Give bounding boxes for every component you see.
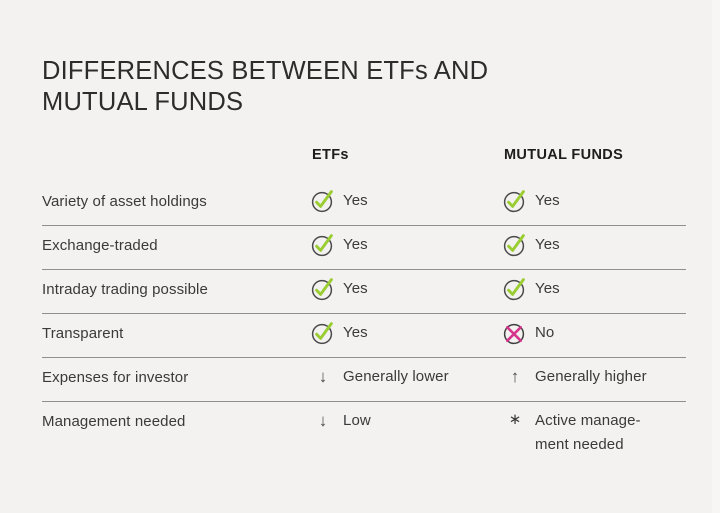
check-circle-icon — [502, 188, 528, 214]
table-row: Exchange-traded Yes — [42, 225, 686, 269]
table-row: Transparent Yes — [42, 313, 686, 357]
column-header-mutual-funds: MUTUAL FUNDS — [504, 147, 623, 163]
comparison-table: ETFs MUTUAL FUNDS Variety of asset holdi… — [42, 140, 686, 464]
arrow-down-icon: ↓ — [310, 408, 336, 433]
cell-value: Yes — [343, 320, 368, 345]
row-label: Management needed — [42, 413, 185, 430]
arrow-up-icon: ↑ — [502, 364, 528, 389]
x-circle-icon — [502, 320, 528, 346]
check-circle-icon — [310, 276, 336, 302]
cell-mutual: Yes — [502, 188, 702, 214]
table-row: Expenses for investor ↓ Generally lower … — [42, 357, 686, 401]
cell-value: Yes — [343, 232, 368, 257]
cell-etf: ↓ Generally lower — [310, 364, 495, 389]
cell-mutual: No — [502, 320, 702, 346]
cell-etf: Yes — [310, 320, 495, 346]
check-circle-icon — [310, 188, 336, 214]
asterisk-icon: ∗ — [502, 408, 528, 431]
cell-value: Yes — [343, 188, 368, 213]
cell-value: Active manage- ment needed — [535, 408, 641, 457]
cell-value: Yes — [535, 232, 560, 257]
cell-mutual: Yes — [502, 276, 702, 302]
table-row: Management needed ↓ Low ∗ Active manage-… — [42, 401, 686, 464]
row-label: Exchange-traded — [42, 237, 158, 254]
cell-etf: Yes — [310, 276, 495, 302]
check-circle-icon — [310, 320, 336, 346]
cell-mutual: Yes — [502, 232, 702, 258]
cell-value: Yes — [343, 276, 368, 301]
cell-value: Yes — [535, 276, 560, 301]
check-circle-icon — [310, 232, 336, 258]
row-label: Intraday trading possible — [42, 281, 208, 298]
cell-etf: ↓ Low — [310, 408, 495, 433]
row-label: Expenses for investor — [42, 369, 188, 386]
cell-value: Low — [343, 408, 371, 433]
comparison-infographic: DIFFERENCES BETWEEN ETFs AND MUTUAL FUND… — [0, 0, 720, 513]
check-circle-icon — [502, 276, 528, 302]
cell-mutual: ∗ Active manage- ment needed — [502, 408, 702, 457]
cell-value: Generally lower — [343, 364, 449, 389]
cell-etf: Yes — [310, 188, 495, 214]
column-header-etfs: ETFs — [312, 147, 349, 163]
table-header-row: ETFs MUTUAL FUNDS — [42, 140, 686, 182]
cell-value: No — [535, 320, 554, 345]
table-row: Variety of asset holdings Yes — [42, 182, 686, 225]
page-title: DIFFERENCES BETWEEN ETFs AND MUTUAL FUND… — [42, 56, 602, 118]
arrow-down-icon: ↓ — [310, 364, 336, 389]
cell-mutual: ↑ Generally higher — [502, 364, 702, 389]
cell-value: Yes — [535, 188, 560, 213]
row-label: Variety of asset holdings — [42, 193, 207, 210]
table-row: Intraday trading possible Yes — [42, 269, 686, 313]
right-edge-strip — [712, 0, 720, 513]
row-label: Transparent — [42, 325, 123, 342]
cell-etf: Yes — [310, 232, 495, 258]
check-circle-icon — [502, 232, 528, 258]
cell-value: Generally higher — [535, 364, 647, 389]
